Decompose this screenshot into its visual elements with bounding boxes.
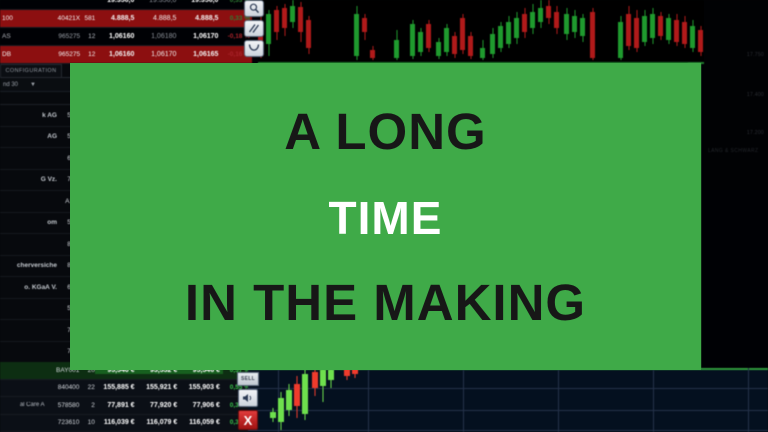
watchlist-name: AG [0,133,59,140]
order-last: 77,906 € [180,402,223,409]
candle [480,0,485,62]
order-qty: 22 [79,384,94,391]
speaker-icon[interactable] [238,389,258,407]
quote-last: 1,06170 [179,33,221,40]
grid-line-horizontal [248,388,768,389]
quote-wkn: 965275 [46,51,80,58]
candle [580,0,585,62]
close-button[interactable]: X [238,410,258,430]
order-row[interactable]: 72361010116,039 €116,079 €116,059 €0,31 … [0,415,252,432]
candle [618,0,623,62]
order-qty: 2 [79,402,94,409]
candle [410,0,415,62]
overlay-line-1: A LONG [284,106,486,157]
quote-name: AS [0,33,46,40]
quote-row[interactable]: 19.356,019.356,019.356,00,33 % [0,0,252,10]
screenshot-root: 19.356,019.356,019.356,00,33 %10040421X5… [0,0,768,432]
order-last: 155,903 € [180,384,223,391]
curve-icon[interactable] [244,40,264,57]
axis-tick-0: 17.750 [747,52,764,58]
order-wkn: 840400 [47,384,80,391]
overlay-line-2: TIME [329,195,443,241]
quote-qty: 12 [80,51,95,58]
candle [674,0,679,62]
candle [498,0,503,62]
quote-bid: 19.356,0 [95,0,137,4]
quote-last: 19.356,0 [179,0,221,4]
watchlist-name: cherversiche [0,262,59,269]
watchlist-name: k AG [0,112,59,119]
candle [690,0,695,62]
candle [266,0,271,62]
order-ask: 77,920 € [138,402,181,409]
candle [468,0,473,62]
order-wkn: 723610 [47,419,80,426]
sell-button[interactable]: SELL [237,372,259,386]
candle [298,0,303,62]
quote-wkn: 40421X [46,15,80,22]
candle [302,368,308,432]
quote-qty: 581 [80,15,95,22]
candle [554,0,559,62]
candle [626,0,631,62]
quote-name: DB [0,51,46,58]
quote-ask: 4.888,5 [137,15,179,22]
candle [538,0,543,62]
quote-ask: 1,06170 [137,51,179,58]
quote-row[interactable]: 10040421X5814.888,54.888,54.888,50,33 % [0,10,252,28]
grid-line-vertical [463,368,464,432]
quote-bid: 1,06160 [95,33,137,40]
candle [564,0,569,62]
candle [370,0,375,62]
order-qty: 10 [79,419,94,426]
grid-line-horizontal [248,430,768,431]
candle [274,0,279,62]
grid-line-vertical [368,368,369,432]
order-wkn: 578580 [47,402,80,409]
order-controls[interactable]: SELL X [236,372,260,430]
candle [278,368,284,432]
title-card-overlay: A LONG TIME IN THE MAKING [70,63,701,370]
candle [344,368,350,432]
candle [352,368,358,432]
grid-line-vertical [558,368,559,432]
chevron-down-icon[interactable]: ▼ [30,82,36,88]
candle [290,0,295,62]
candle [650,0,655,62]
broker-brand-label: LANG & SCHWARZ [708,148,758,154]
candle [282,0,287,62]
candle [590,0,595,62]
orders-table[interactable]: BAY0012095,540 €95,552 €95,546 €0,57 %84… [0,362,252,432]
bottom-candlestick-chart [248,368,768,432]
quote-last: 4.888,5 [179,15,221,22]
magnifier-icon[interactable] [244,0,264,17]
candle [418,0,423,62]
quote-bid: 4.888,5 [95,15,137,22]
candle [354,0,359,62]
quote-bid: 1,06160 [95,51,137,58]
watchlist-name: om [0,219,59,226]
grid-line-horizontal [248,410,768,411]
grid-line-vertical [748,368,749,432]
axis-tick-2: 17.200 [747,130,764,136]
candle [546,0,551,62]
candle [320,368,326,432]
top-candlestick-chart [258,0,704,64]
order-ask: 116,079 € [138,419,181,426]
candle [514,0,519,62]
order-bid: 116,039 € [95,419,138,426]
quote-row[interactable]: AS965275121,061601,061801,06170-0,18 % [0,28,252,46]
candle [444,0,449,62]
quote-row[interactable]: DB965275121,061601,061701,06165-0,16 % [0,46,252,64]
candle [270,368,276,432]
quote-ask: 1,06180 [137,33,179,40]
candle [452,0,457,62]
order-row[interactable]: al Care A578580277,891 €77,920 €77,906 €… [0,397,252,415]
quote-last: 1,06165 [179,51,221,58]
right-price-chart: 17.750 17.400 17.200 LANG & SCHWARZ [704,0,768,190]
order-row[interactable]: 84040022155,885 €155,921 €155,903 €0,55 … [0,380,252,398]
candle [530,0,535,62]
order-ask: 155,921 € [138,384,181,391]
candle [294,368,300,432]
candle [306,0,311,62]
candle [658,0,663,62]
candle [682,0,687,62]
candle [436,0,441,62]
index-selector-label: nd 30 [3,82,18,88]
candle [490,0,495,62]
candle [362,0,367,62]
candle [394,0,399,62]
axis-tick-1: 17.400 [747,92,764,98]
candle [286,368,292,432]
candle [426,0,431,62]
chart-toolbar[interactable] [244,0,266,57]
candle [642,0,647,62]
order-bid: 77,891 € [95,402,138,409]
candle [698,0,703,62]
candle [460,0,465,62]
candle [312,368,318,432]
quote-ask: 19.356,0 [137,0,179,4]
order-name: al Care A [0,402,47,408]
quote-qty: 12 [80,33,95,40]
watchlist-name: G Vz. [0,176,59,183]
quote-wkn: 965275 [46,33,80,40]
order-bid: 155,885 € [95,384,138,391]
candle [666,0,671,62]
candle [572,0,577,62]
order-last: 116,059 € [180,419,223,426]
quote-name: 100 [0,15,46,22]
candle [522,0,527,62]
configuration-tab[interactable]: CONFIGURATION [0,64,62,77]
grid-line-vertical [653,368,654,432]
candle [506,0,511,62]
overlay-line-3: IN THE MAKING [185,277,586,328]
watchlist-name: o. KGaA V. [0,284,59,291]
parallel-lines-icon[interactable] [244,20,264,37]
candle [634,0,639,62]
candle [328,368,334,432]
